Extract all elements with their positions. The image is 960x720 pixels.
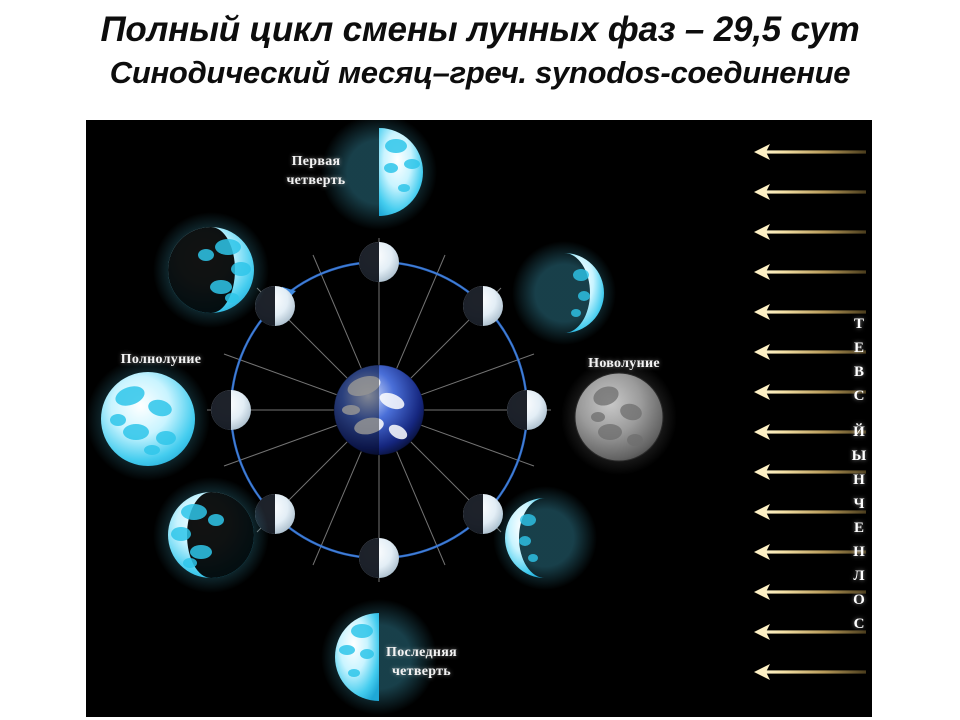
sunlight-label-letter: Е xyxy=(854,337,864,360)
outer-moon-waning-gibbous xyxy=(153,477,269,593)
moon-phase-diagram: Первая четверть Полнолуние Новолуние Пос… xyxy=(86,120,872,717)
inner-moon-bottom xyxy=(359,538,399,578)
sunlight-label-letter: Н xyxy=(853,469,865,492)
sunlight-label-letter: В xyxy=(854,361,864,384)
label-full-moon: Полнолуние xyxy=(96,350,226,369)
sunlight-label-letter: Ы xyxy=(852,445,867,468)
page-title-line-2: Синодический месяц–греч. synodos-соедине… xyxy=(0,52,960,94)
sunlight-label-letter: С xyxy=(854,385,865,408)
sunlight-label-letter: Ч xyxy=(853,493,864,516)
outer-moon-waning-crescent xyxy=(493,486,597,590)
inner-moon-right xyxy=(507,390,547,430)
sunlight-label-letter: Н xyxy=(853,541,865,564)
sunlight-label-letter: С xyxy=(854,613,865,636)
sunlight-label-letter: Т xyxy=(854,313,864,336)
outer-moon-waxing-gibbous xyxy=(153,212,269,328)
inner-moon-left xyxy=(211,390,251,430)
label-first-quarter: Первая четверть xyxy=(261,152,371,190)
label-last-quarter: Последняя четверть xyxy=(364,643,479,681)
page-title: Полный цикл смены лунных фаз – 29,5 сут … xyxy=(0,8,960,94)
sunlight-label-letter: Е xyxy=(854,517,864,540)
inner-moon-top-right xyxy=(463,286,503,326)
sunlight-label: СОЛНЕЧНЫЙСВЕТ xyxy=(846,206,872,636)
outer-moon-new-moon xyxy=(561,359,677,475)
slide-page: Полный цикл смены лунных фаз – 29,5 сут … xyxy=(0,0,960,720)
inner-moon-top xyxy=(359,242,399,282)
sunlight-label-letter: Л xyxy=(853,565,864,588)
page-title-line-1: Полный цикл смены лунных фаз – 29,5 сут xyxy=(0,8,960,52)
sunlight-label-letter: Й xyxy=(853,421,865,444)
earth-globe xyxy=(334,365,424,455)
moon-phase-graphic xyxy=(86,120,872,717)
sunlight-label-letter: О xyxy=(853,589,865,612)
label-new-moon: Новолуние xyxy=(564,354,684,373)
outer-moon-waxing-crescent xyxy=(512,241,616,345)
outer-moon-full-moon xyxy=(86,357,210,481)
